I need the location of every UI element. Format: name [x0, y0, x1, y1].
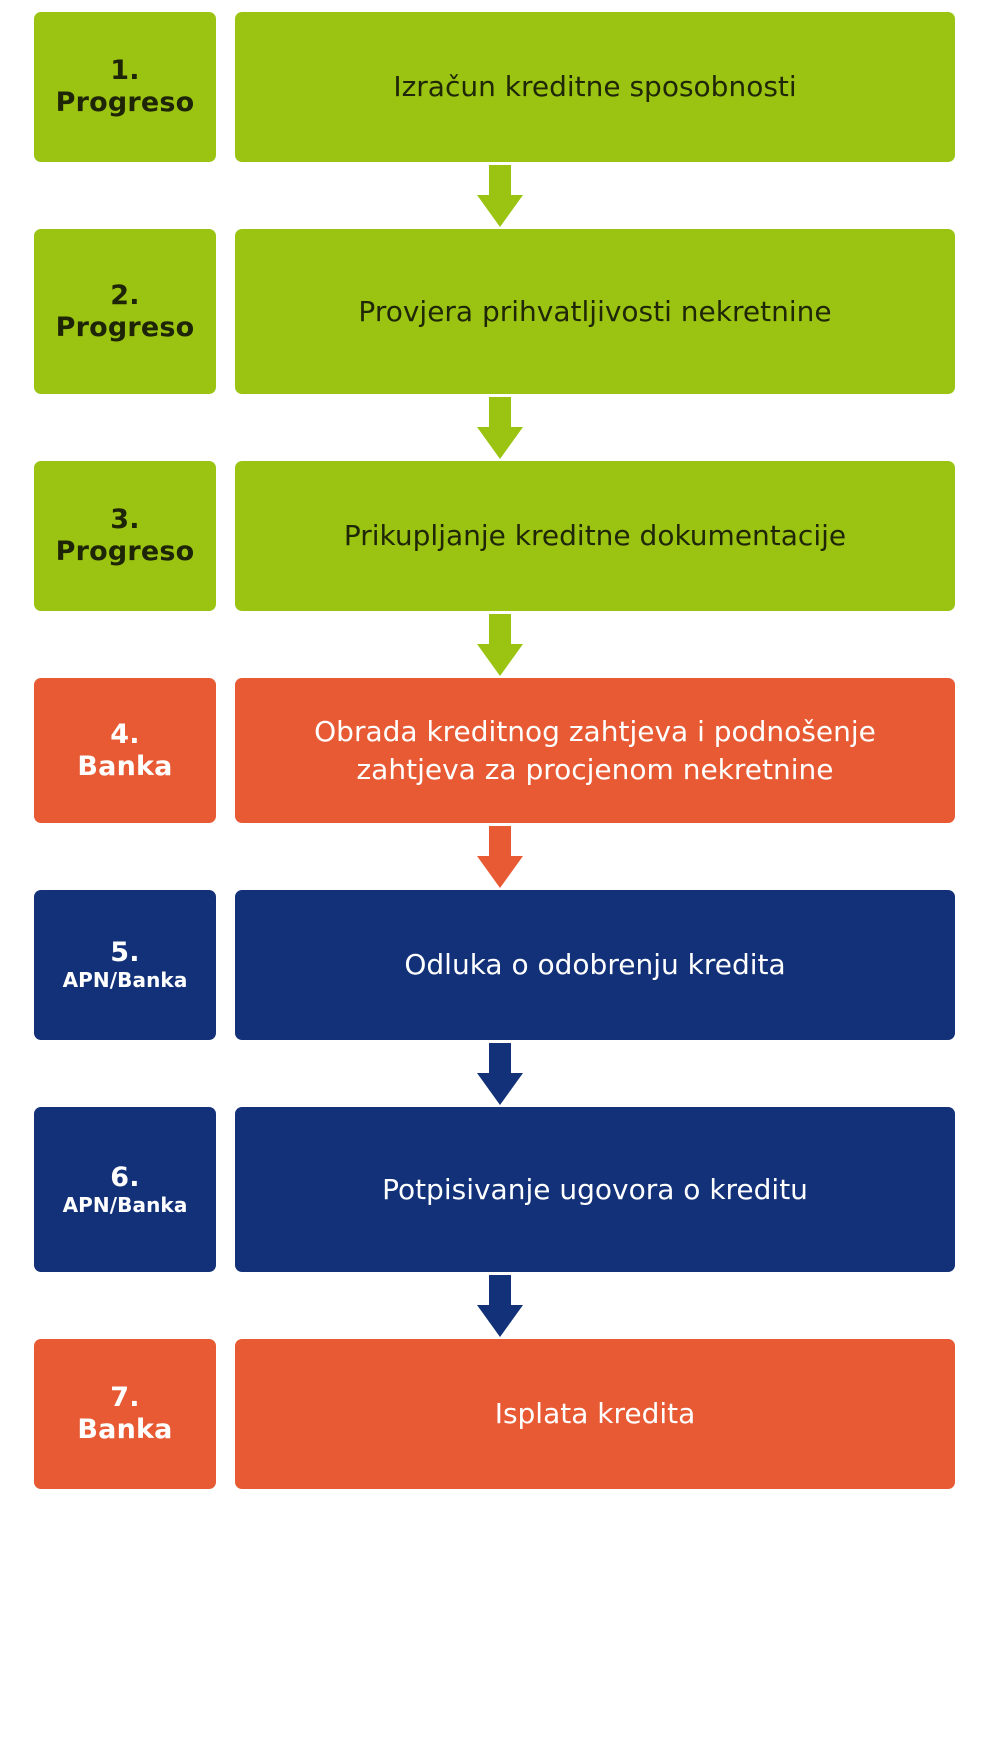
connector-6-to-7: [0, 1272, 1000, 1339]
step-7-actor: Banka: [77, 1414, 172, 1446]
arrow-shaft: [489, 1275, 511, 1307]
flow-step-6: 6. APN/Banka Potpisivanje ugovora o kred…: [34, 1107, 955, 1272]
arrow-down-icon: [469, 1043, 531, 1105]
flow-step-1: 1. Progreso Izračun kreditne sposobnosti: [34, 12, 955, 162]
arrow-down-icon: [469, 397, 531, 459]
step-6-text: Potpisivanje ugovora o kreditu: [382, 1171, 808, 1209]
step-3-body: Prikupljanje kreditne dokumentacije: [235, 461, 955, 611]
arrow-down-icon: [469, 614, 531, 676]
step-5-actor: APN/Banka: [63, 969, 188, 993]
step-3-actor: Progreso: [56, 536, 195, 568]
arrow-down-icon: [469, 165, 531, 227]
arrow-head: [477, 1073, 523, 1105]
step-6-actor: APN/Banka: [63, 1194, 188, 1218]
process-flowchart: 1. Progreso Izračun kreditne sposobnosti…: [0, 0, 1000, 1757]
flow-step-2: 2. Progreso Provjera prihvatljivosti nek…: [34, 229, 955, 394]
flow-step-5: 5. APN/Banka Odluka o odobrenju kredita: [34, 890, 955, 1040]
step-3-tag: 3. Progreso: [34, 461, 216, 611]
step-4-body: Obrada kreditnog zahtjeva i podnošenje z…: [235, 678, 955, 823]
step-2-number: 2.: [110, 280, 139, 312]
flow-step-7: 7. Banka Isplata kredita: [34, 1339, 955, 1489]
step-7-tag: 7. Banka: [34, 1339, 216, 1489]
step-4-text: Obrada kreditnog zahtjeva i podnošenje z…: [257, 713, 933, 788]
step-1-text: Izračun kreditne sposobnosti: [393, 68, 796, 106]
step-1-tag: 1. Progreso: [34, 12, 216, 162]
step-3-number: 3.: [110, 504, 139, 536]
step-2-text: Provjera prihvatljivosti nekretnine: [358, 293, 831, 331]
step-1-body: Izračun kreditne sposobnosti: [235, 12, 955, 162]
step-1-actor: Progreso: [56, 87, 195, 119]
step-7-number: 7.: [110, 1382, 139, 1414]
step-6-number: 6.: [110, 1162, 139, 1194]
step-3-text: Prikupljanje kreditne dokumentacije: [344, 517, 846, 555]
arrow-shaft: [489, 826, 511, 858]
step-5-text: Odluka o odobrenju kredita: [404, 946, 785, 984]
arrow-shaft: [489, 614, 511, 646]
step-5-body: Odluka o odobrenju kredita: [235, 890, 955, 1040]
step-4-number: 4.: [110, 719, 139, 751]
step-1-number: 1.: [110, 55, 139, 87]
step-2-actor: Progreso: [56, 312, 195, 344]
step-2-tag: 2. Progreso: [34, 229, 216, 394]
step-6-body: Potpisivanje ugovora o kreditu: [235, 1107, 955, 1272]
connector-5-to-6: [0, 1040, 1000, 1107]
arrow-down-icon: [469, 1275, 531, 1337]
flow-step-3: 3. Progreso Prikupljanje kreditne dokume…: [34, 461, 955, 611]
arrow-head: [477, 644, 523, 676]
arrow-down-icon: [469, 826, 531, 888]
arrow-head: [477, 1305, 523, 1337]
arrow-shaft: [489, 165, 511, 197]
arrow-head: [477, 856, 523, 888]
flow-step-4: 4. Banka Obrada kreditnog zahtjeva i pod…: [34, 678, 955, 823]
step-6-tag: 6. APN/Banka: [34, 1107, 216, 1272]
connector-4-to-5: [0, 823, 1000, 890]
arrow-head: [477, 195, 523, 227]
step-5-tag: 5. APN/Banka: [34, 890, 216, 1040]
arrow-shaft: [489, 397, 511, 429]
step-4-tag: 4. Banka: [34, 678, 216, 823]
connector-3-to-4: [0, 611, 1000, 678]
arrow-head: [477, 427, 523, 459]
connector-2-to-3: [0, 394, 1000, 461]
arrow-shaft: [489, 1043, 511, 1075]
step-5-number: 5.: [110, 937, 139, 969]
step-4-actor: Banka: [77, 751, 172, 783]
step-2-body: Provjera prihvatljivosti nekretnine: [235, 229, 955, 394]
step-7-body: Isplata kredita: [235, 1339, 955, 1489]
step-7-text: Isplata kredita: [495, 1395, 696, 1433]
connector-1-to-2: [0, 162, 1000, 229]
